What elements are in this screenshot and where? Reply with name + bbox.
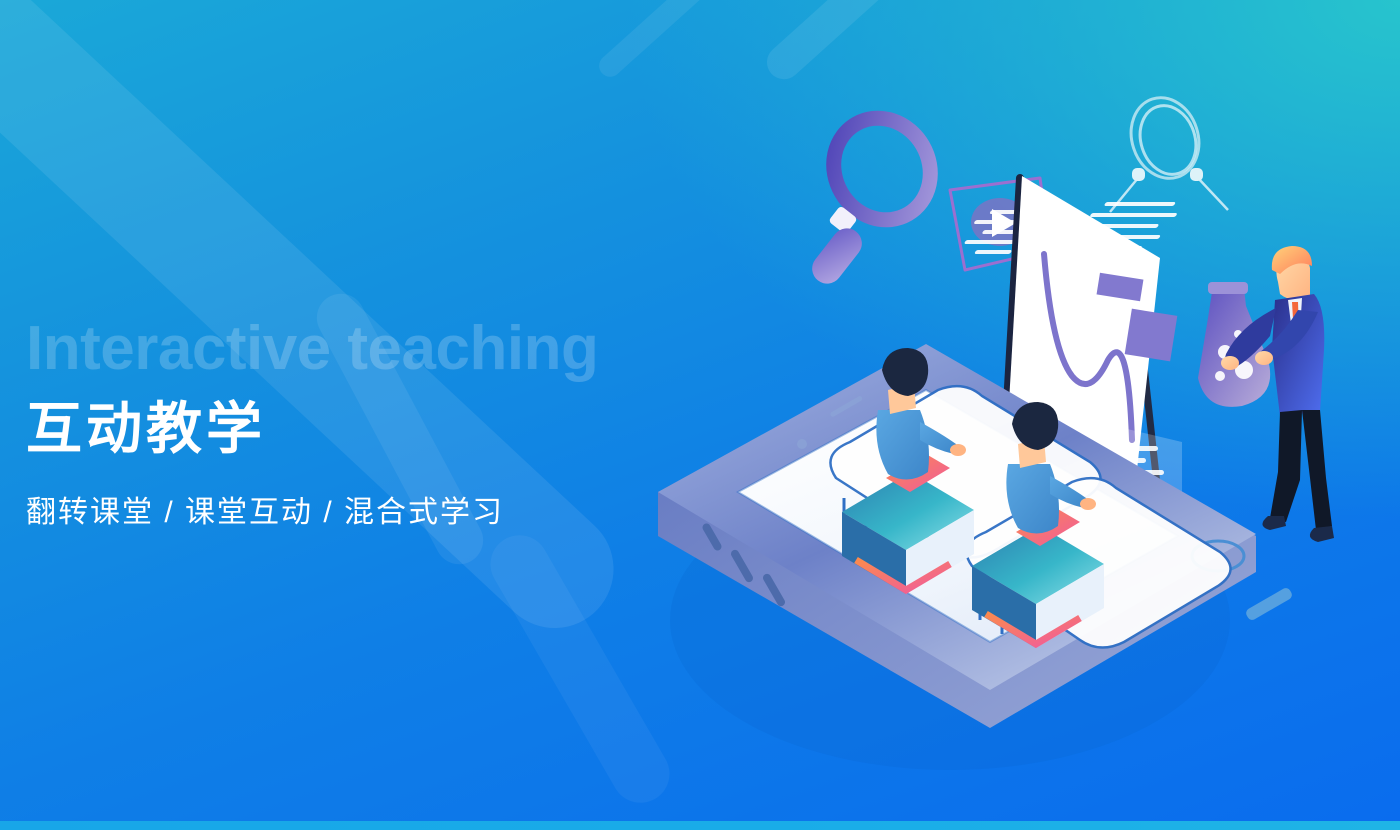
page-title: 互动教学 [26, 400, 598, 459]
magnifier-icon [806, 100, 949, 289]
illustration [620, 60, 1400, 800]
subtitle: 翻转课堂 / 课堂互动 / 混合式学习 [26, 487, 598, 531]
ghost-title: Interactive teaching [26, 318, 598, 380]
idea-circle [1110, 89, 1228, 212]
banner-root: Interactive teaching 互动教学 翻转课堂 / 课堂互动 / … [0, 0, 1400, 830]
bottom-accent-strip [0, 821, 1400, 830]
headline-group: Interactive teaching 互动教学 翻转课堂 / 课堂互动 / … [26, 318, 598, 531]
